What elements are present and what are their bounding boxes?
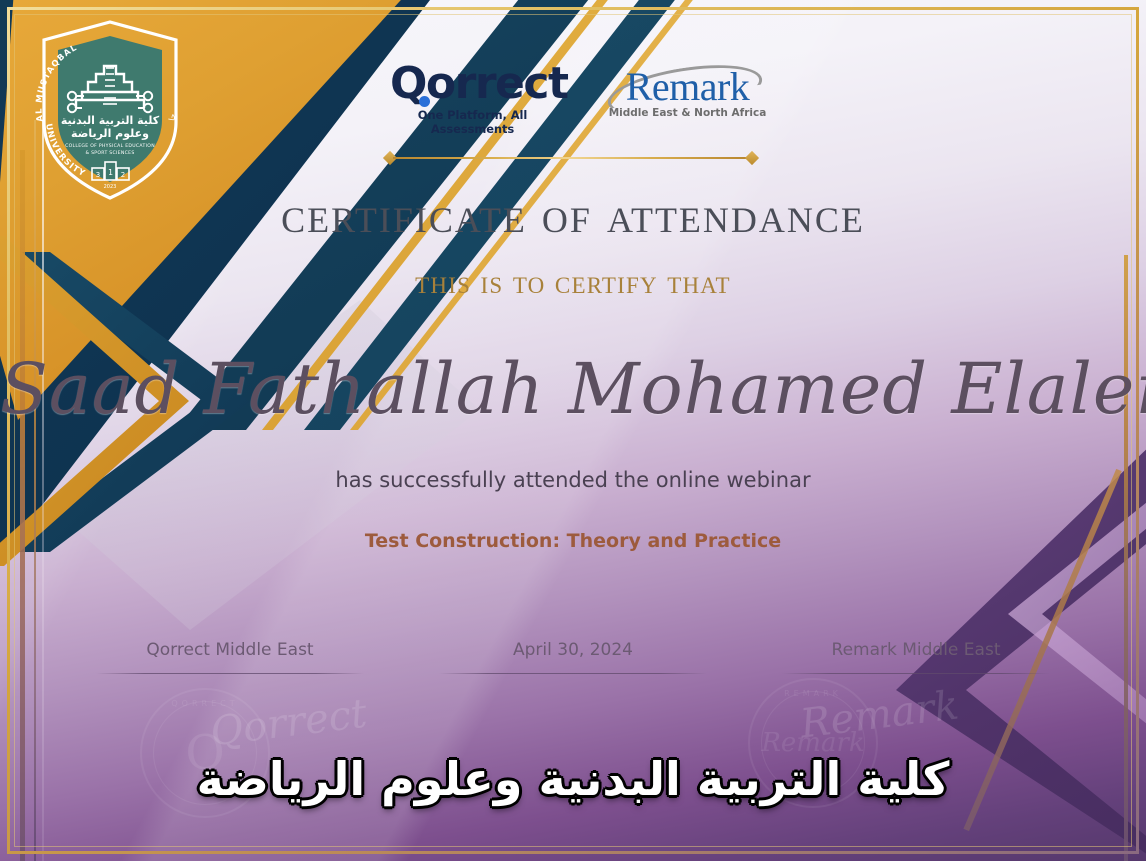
signature-block-left: Qorrect Middle East: [96, 640, 364, 674]
signature-block-center: April 30, 2024: [439, 640, 707, 674]
signature-row: Qorrect Middle East April 30, 2024 Remar…: [96, 640, 1050, 674]
remark-wordmark: Remark: [605, 66, 770, 108]
gold-divider-ornament: [385, 152, 757, 164]
svg-text:3: 3: [96, 171, 100, 179]
certificate-date: April 30, 2024: [439, 640, 707, 673]
signature-block-right: Remark Middle East: [782, 640, 1050, 674]
remark-logo: Remark Middle East & North Africa: [605, 62, 770, 119]
svg-text:2: 2: [121, 171, 125, 179]
svg-text:وعلوم الرياضة: وعلوم الرياضة: [71, 127, 149, 140]
qorrect-logo: Qorrect One Platform, All Assessments: [390, 62, 555, 136]
partner-logos: Qorrect One Platform, All Assessments Re…: [390, 62, 770, 136]
signature-label-qorrect: Qorrect Middle East: [96, 640, 364, 673]
divider-line: [393, 157, 749, 159]
qorrect-dot-icon: [419, 96, 430, 107]
attendance-statement: has successfully attended the online web…: [0, 468, 1146, 492]
certificate-title: Certificate of Attendance: [0, 186, 1146, 245]
svg-text:كلية التربية البدنية: كلية التربية البدنية: [61, 114, 160, 127]
signature-rule-left: [96, 673, 364, 674]
qorrect-tagline: One Platform, All Assessments: [390, 108, 555, 136]
university-shield-logo: كلية التربية البدنية وعلوم الرياضة COLLE…: [26, 18, 194, 203]
signature-rule-right: [782, 673, 1050, 674]
qorrect-wordmark: Qorrect: [390, 62, 555, 105]
course-title: Test Construction: Theory and Practice: [0, 530, 1146, 552]
divider-diamond-right-icon: [745, 151, 759, 165]
certificate-subtitle: This is to certify that: [0, 265, 1146, 302]
arabic-footer-overlay: كلية التربية البدنية وعلوم الرياضة: [0, 752, 1146, 806]
svg-text:1: 1: [108, 168, 113, 177]
signature-rule-center: [439, 673, 707, 674]
recipient-name: Saad Fathallah Mohamed Elalem: [0, 348, 1146, 430]
svg-text:& SPORT SCIENCES: & SPORT SCIENCES: [85, 150, 134, 156]
svg-text:COLLEGE OF PHYSICAL EDUCATION: COLLEGE OF PHYSICAL EDUCATION: [65, 143, 155, 149]
certificate-page: كلية التربية البدنية وعلوم الرياضة COLLE…: [0, 0, 1146, 861]
signature-label-remark: Remark Middle East: [782, 640, 1050, 673]
